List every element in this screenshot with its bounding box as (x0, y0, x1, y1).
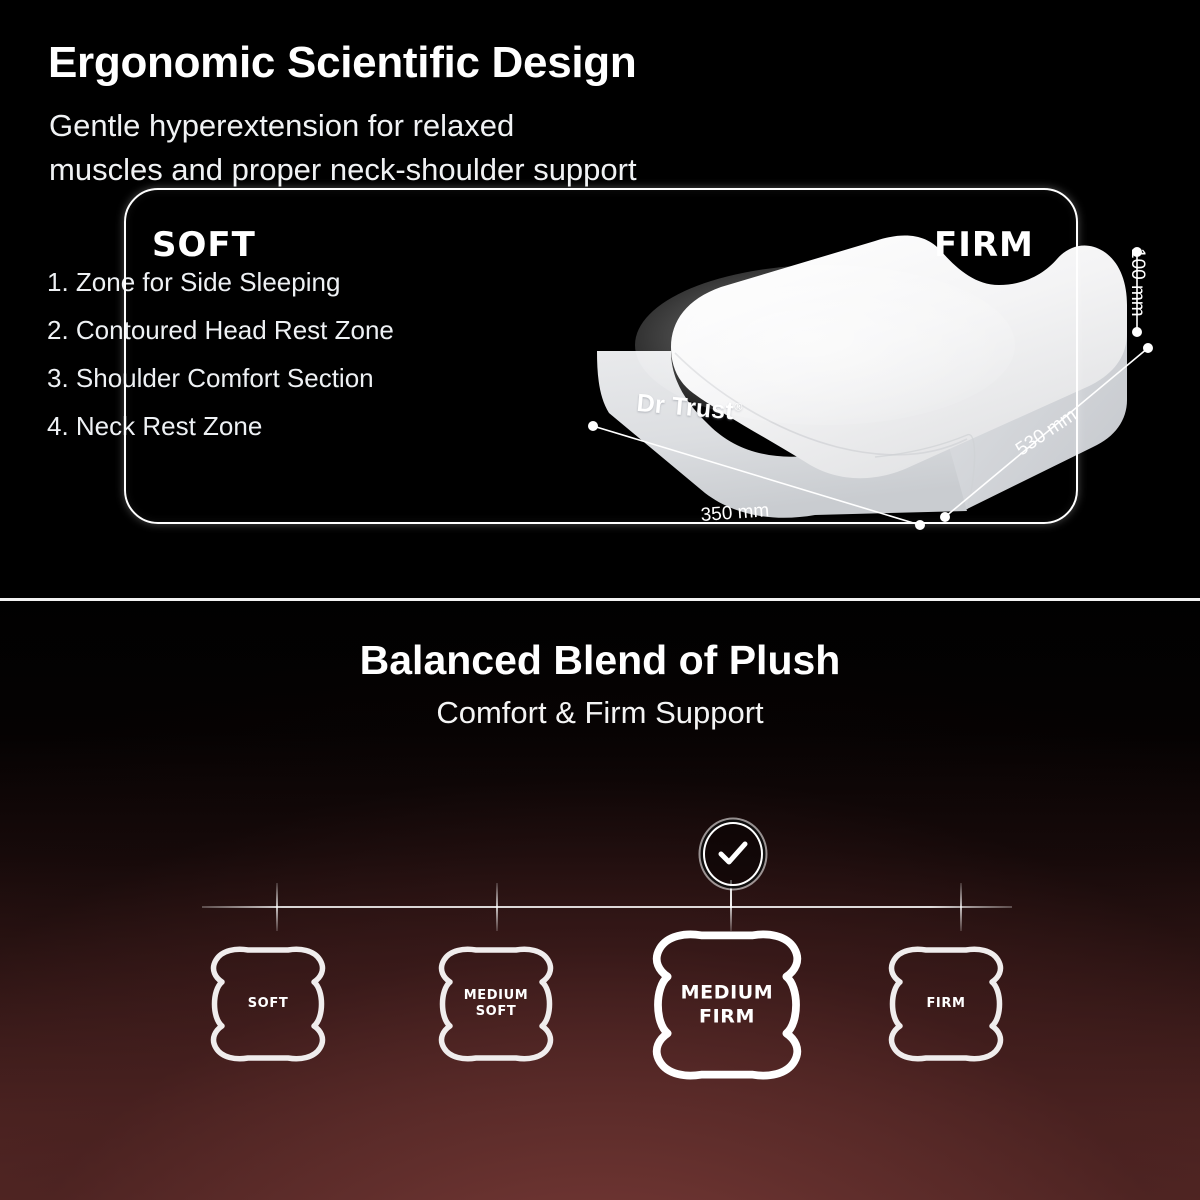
firmness-option-label: MEDIUMFIRM (634, 981, 820, 1029)
firmness-option-label: FIRM (874, 996, 1018, 1012)
firmness-option-label: MEDIUMSOFT (424, 988, 568, 1021)
dimension-endpoint (1133, 328, 1141, 336)
dimension-endpoint (1144, 344, 1152, 352)
firmness-option-medium-firm[interactable]: MEDIUMFIRM (634, 925, 820, 1085)
section-title: Ergonomic Scientific Design (48, 38, 636, 88)
section-subtitle: Gentle hyperextension for relaxed muscle… (49, 104, 637, 192)
subtitle-line-1: Gentle hyperextension for relaxed (49, 104, 637, 148)
scale-tick-4 (960, 883, 962, 931)
firmness-option-soft[interactable]: SOFT (196, 942, 340, 1066)
firmness-scale-axis (202, 906, 1012, 908)
scale-tick-2 (496, 883, 498, 931)
firmness-section: Balanced Blend of Plush Comfort & Firm S… (0, 601, 1200, 1200)
subtitle-line-2: muscles and proper neck-shoulder support (49, 148, 637, 192)
product-infographic: Ergonomic Scientific Design Gentle hyper… (0, 0, 1200, 1200)
height-dimension-label: 100 mm (1126, 248, 1148, 317)
firmness-option-firm[interactable]: FIRM (874, 942, 1018, 1066)
scale-label-firm: FIRM (934, 225, 1034, 265)
firmness-subheading: Comfort & Firm Support (0, 695, 1200, 731)
scale-tick-1 (276, 883, 278, 931)
checkmark-icon (718, 841, 748, 867)
selected-firmness-badge[interactable] (703, 822, 763, 886)
firmness-heading: Balanced Blend of Plush (0, 637, 1200, 684)
firmness-option-medium-soft[interactable]: MEDIUMSOFT (424, 942, 568, 1066)
firmness-option-label: SOFT (196, 996, 340, 1012)
scale-label-soft: SOFT (152, 225, 256, 265)
